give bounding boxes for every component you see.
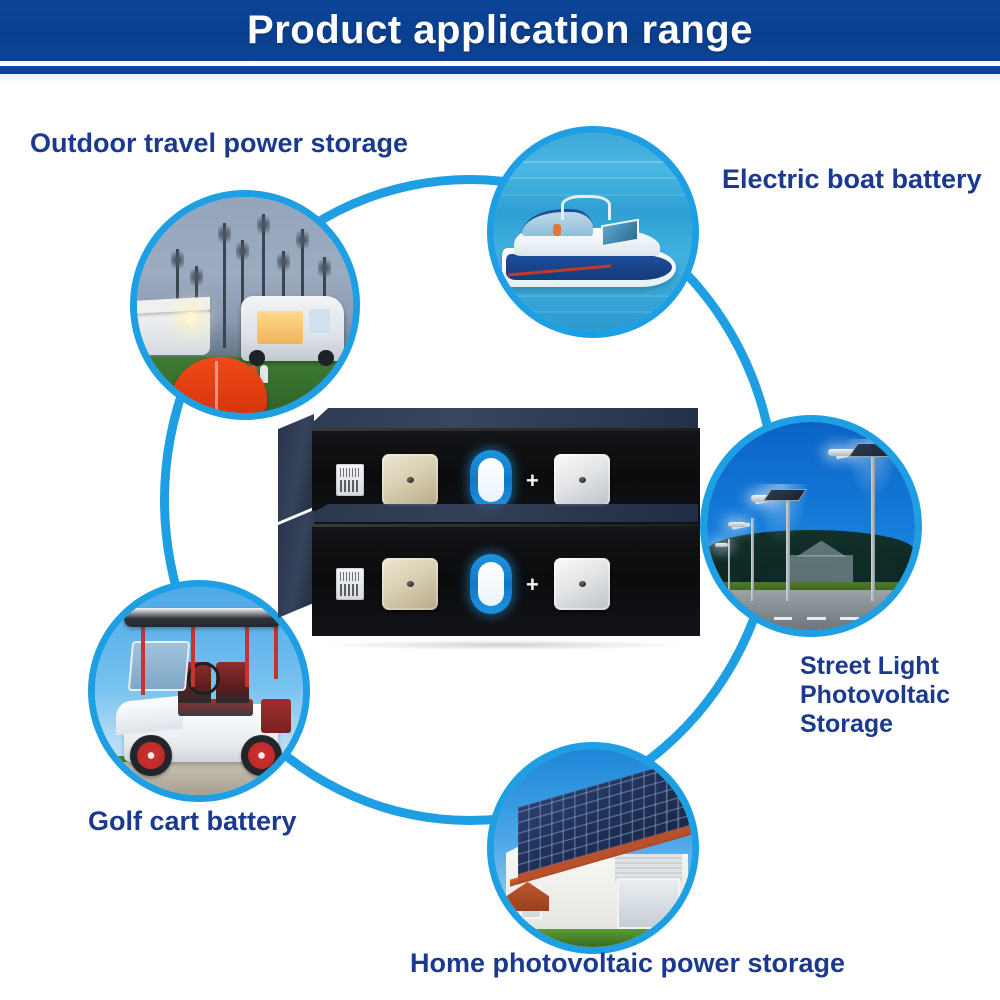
polarity-plus-marker: + <box>526 574 539 596</box>
scene-house-solar <box>494 749 692 947</box>
scene-camping <box>137 197 353 413</box>
label-golf-cart: Golf cart battery <box>88 806 297 837</box>
label-home-photovoltaic: Home photovoltaic power storage <box>410 948 845 979</box>
label-street-light: Street Light Photovoltaic Storage <box>800 652 950 739</box>
bubble-street-light[interactable] <box>700 415 922 637</box>
bubble-home-photovoltaic[interactable] <box>487 742 699 954</box>
positive-terminal <box>382 454 438 506</box>
positive-terminal <box>382 558 438 610</box>
scene-boat <box>494 133 692 331</box>
infographic-page: Product application range <box>0 0 1000 1000</box>
terminal-screw <box>407 477 414 483</box>
scene-golf-cart <box>95 587 303 795</box>
cell-top-face <box>296 504 698 522</box>
header-fade <box>0 74 1000 84</box>
battery-cell-lower: + <box>278 504 698 624</box>
battery-product-image: + + <box>278 408 698 648</box>
header-accent-stripe <box>0 66 1000 74</box>
qr-code-label <box>336 464 364 496</box>
qr-code-label <box>336 568 364 600</box>
negative-terminal <box>554 558 610 610</box>
polarity-plus-marker: + <box>526 470 539 492</box>
safety-vent <box>470 554 512 614</box>
scene-street-light <box>707 422 915 630</box>
terminal-screw <box>579 581 586 587</box>
terminal-screw <box>407 581 414 587</box>
bubble-golf-cart[interactable] <box>88 580 310 802</box>
cell-side-face <box>278 510 314 618</box>
safety-vent <box>470 450 512 510</box>
cell-front-face: + <box>312 524 700 636</box>
terminal-screw <box>579 477 586 483</box>
label-outdoor-travel: Outdoor travel power storage <box>30 128 408 159</box>
page-title: Product application range <box>0 0 1000 61</box>
bubble-electric-boat[interactable] <box>487 126 699 338</box>
label-electric-boat: Electric boat battery <box>722 164 982 195</box>
bubble-outdoor-travel[interactable] <box>130 190 360 420</box>
product-shadow <box>326 640 682 650</box>
negative-terminal <box>554 454 610 506</box>
